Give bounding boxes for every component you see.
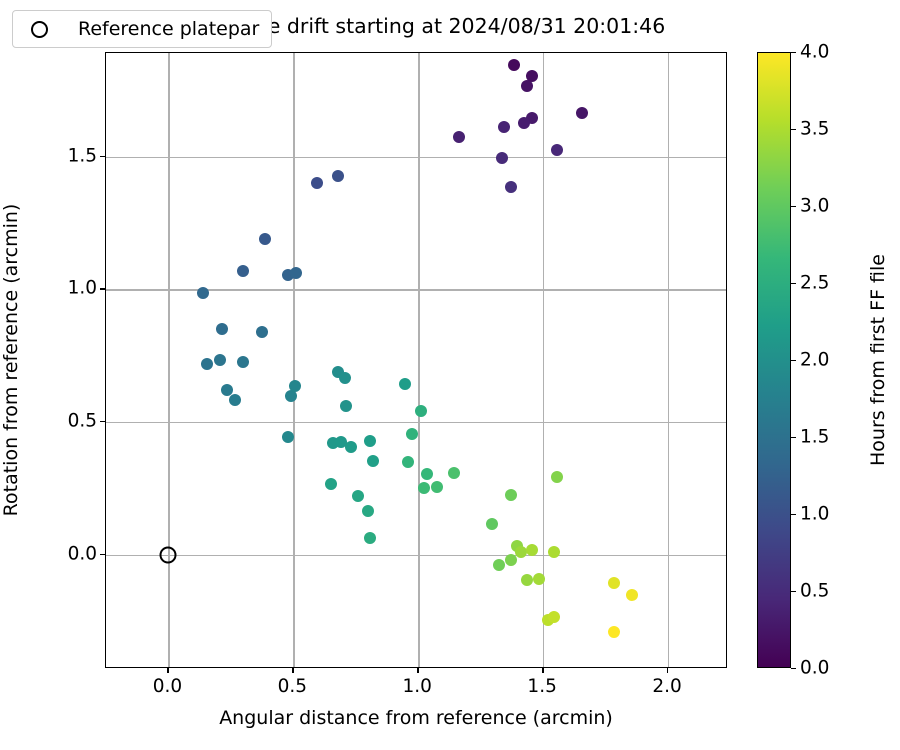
- scatter-point[interactable]: [431, 481, 443, 493]
- y-tick-label-2: 1.0: [68, 278, 97, 299]
- x-tick-label-3: 1.5: [527, 676, 556, 697]
- scatter-point[interactable]: [415, 405, 427, 417]
- scatter-point[interactable]: [526, 544, 538, 556]
- scatter-point[interactable]: [339, 372, 351, 384]
- scatter-point[interactable]: [214, 354, 226, 366]
- x-axis-label: Angular distance from reference (arcmin): [105, 707, 727, 729]
- scatter-point[interactable]: [486, 518, 498, 530]
- colorbar-tick-label-2: 1.0: [800, 504, 829, 525]
- scatter-point[interactable]: [576, 107, 588, 119]
- colorbar-tick-mark-2: [791, 514, 796, 515]
- colorbar-tick-label-8: 4.0: [800, 42, 829, 63]
- colorbar-tick-mark-7: [791, 129, 796, 130]
- scatter-point[interactable]: [399, 378, 411, 390]
- colorbar-tick-mark-3: [791, 437, 796, 438]
- colorbar-tick-label-4: 2.0: [800, 350, 829, 371]
- colorbar-label: Hours from first FF file: [867, 254, 889, 466]
- scatter-point[interactable]: [364, 435, 376, 447]
- scatter-point[interactable]: [608, 626, 620, 638]
- scatter-point[interactable]: [518, 117, 530, 129]
- colorbar-tick-label-7: 3.5: [800, 119, 829, 140]
- scatter-point[interactable]: [229, 394, 241, 406]
- scatter-point[interactable]: [493, 559, 505, 571]
- gridline-y-3: [106, 157, 726, 158]
- colorbar-tick-label-6: 3.0: [800, 196, 829, 217]
- scatter-point[interactable]: [367, 455, 379, 467]
- x-tick-label-4: 2.0: [652, 676, 681, 697]
- y-tick-mark-0: [100, 554, 105, 555]
- x-tick-mark-1: [292, 668, 293, 673]
- scatter-point[interactable]: [311, 177, 323, 189]
- colorbar-tick-mark-5: [791, 283, 796, 284]
- colorbar-tick-mark-8: [791, 52, 796, 53]
- colorbar: [757, 52, 791, 668]
- scatter-point[interactable]: [505, 554, 517, 566]
- scatter-point[interactable]: [237, 265, 249, 277]
- gridline-x-2: [418, 53, 419, 667]
- y-axis-label: Rotation from reference (arcmin): [0, 204, 22, 517]
- scatter-point[interactable]: [216, 323, 228, 335]
- legend: Reference platepar: [12, 10, 272, 48]
- scatter-point[interactable]: [521, 80, 533, 92]
- scatter-point[interactable]: [548, 546, 560, 558]
- scatter-point[interactable]: [364, 532, 376, 544]
- colorbar-tick-label-3: 1.5: [800, 427, 829, 448]
- figure-container: FOV centre drift starting at 2024/08/31 …: [0, 0, 900, 750]
- y-tick-label-1: 0.5: [68, 411, 97, 432]
- gridline-x-1: [293, 53, 294, 667]
- scatter-point[interactable]: [498, 121, 510, 133]
- scatter-point[interactable]: [508, 59, 520, 71]
- scatter-point[interactable]: [345, 441, 357, 453]
- scatter-point[interactable]: [289, 380, 301, 392]
- x-tick-label-1: 0.5: [278, 676, 307, 697]
- scatter-point[interactable]: [448, 467, 460, 479]
- y-tick-mark-2: [100, 288, 105, 289]
- gridline-x-4: [668, 53, 669, 667]
- scatter-point[interactable]: [406, 428, 418, 440]
- scatter-point[interactable]: [548, 611, 560, 623]
- scatter-point[interactable]: [505, 181, 517, 193]
- colorbar-tick-mark-4: [791, 360, 796, 361]
- scatter-point[interactable]: [237, 356, 249, 368]
- y-tick-mark-1: [100, 421, 105, 422]
- scatter-point[interactable]: [418, 482, 430, 494]
- scatter-point[interactable]: [282, 431, 294, 443]
- gridline-y-1: [106, 422, 726, 423]
- scatter-point[interactable]: [533, 573, 545, 585]
- scatter-point[interactable]: [332, 170, 344, 182]
- scatter-plot-axes[interactable]: [105, 52, 727, 668]
- x-tick-mark-4: [667, 668, 668, 673]
- scatter-point[interactable]: [505, 489, 517, 501]
- colorbar-tick-mark-1: [791, 591, 796, 592]
- scatter-point[interactable]: [352, 490, 364, 502]
- scatter-point[interactable]: [551, 144, 563, 156]
- x-tick-label-0: 0.0: [153, 676, 182, 697]
- colorbar-tick-label-0: 0.0: [800, 658, 829, 679]
- scatter-point[interactable]: [201, 358, 213, 370]
- scatter-point[interactable]: [402, 456, 414, 468]
- scatter-point[interactable]: [197, 287, 209, 299]
- scatter-point[interactable]: [608, 577, 620, 589]
- gridline-x-0: [168, 53, 169, 667]
- gridline-y-0: [106, 555, 726, 556]
- scatter-point[interactable]: [551, 471, 563, 483]
- colorbar-tick-label-5: 2.5: [800, 273, 829, 294]
- y-tick-mark-3: [100, 156, 105, 157]
- legend-label-reference-platepar: Reference platepar: [78, 18, 259, 40]
- scatter-point[interactable]: [453, 131, 465, 143]
- scatter-point[interactable]: [626, 589, 638, 601]
- scatter-point[interactable]: [496, 152, 508, 164]
- scatter-point[interactable]: [515, 546, 527, 558]
- x-tick-mark-2: [417, 668, 418, 673]
- scatter-point[interactable]: [521, 574, 533, 586]
- scatter-point[interactable]: [340, 400, 352, 412]
- scatter-point[interactable]: [259, 233, 271, 245]
- y-tick-label-0: 0.0: [68, 543, 97, 564]
- x-tick-mark-0: [167, 668, 168, 673]
- reference-platepar-marker-icon: [31, 21, 48, 38]
- scatter-point[interactable]: [421, 468, 433, 480]
- colorbar-tick-label-1: 0.5: [800, 581, 829, 602]
- scatter-point[interactable]: [290, 267, 302, 279]
- colorbar-tick-mark-6: [791, 206, 796, 207]
- colorbar-tick-mark-0: [791, 668, 796, 669]
- x-tick-label-2: 1.0: [403, 676, 432, 697]
- scatter-point[interactable]: [325, 478, 337, 490]
- scatter-point[interactable]: [362, 505, 374, 517]
- reference-platepar-point[interactable]: [160, 546, 177, 563]
- y-tick-label-3: 1.5: [68, 145, 97, 166]
- x-tick-mark-3: [542, 668, 543, 673]
- scatter-point[interactable]: [256, 326, 268, 338]
